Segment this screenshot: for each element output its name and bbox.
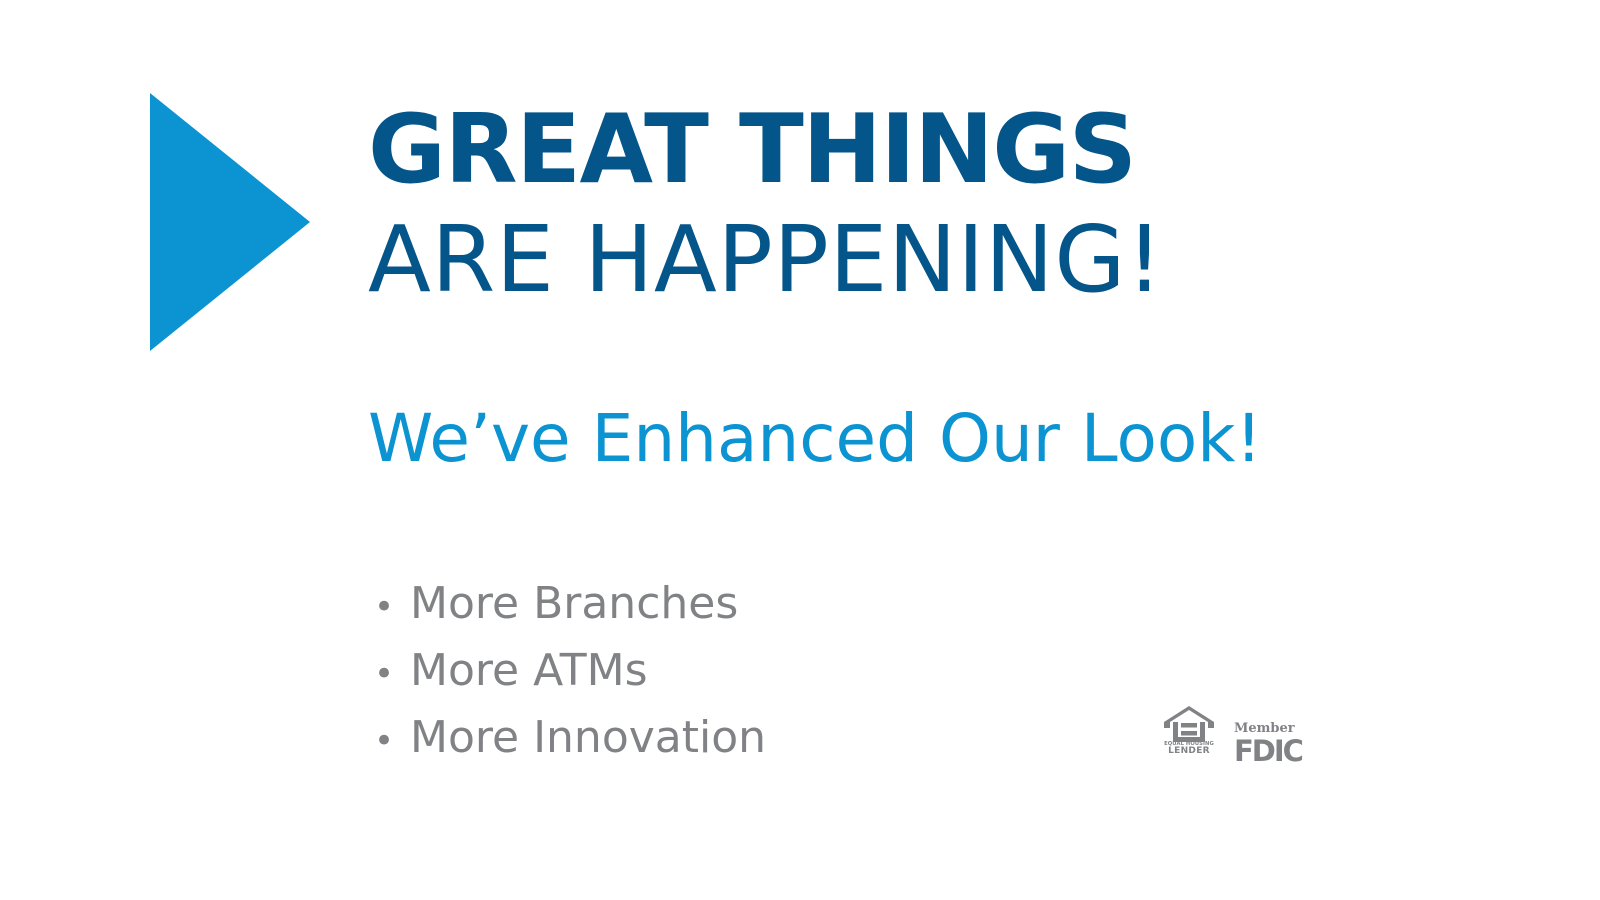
- equal-housing-lender-logo: EQUAL HOUSING LENDER: [1160, 706, 1218, 757]
- equal-housing-lender-icon: [1164, 706, 1214, 742]
- play-triangle-icon: [150, 93, 310, 351]
- list-item: • More ATMs: [374, 639, 766, 706]
- list-item-label: More ATMs: [410, 639, 648, 703]
- ehl-caption-line-2: LENDER: [1164, 747, 1214, 757]
- list-item-label: More Innovation: [410, 706, 766, 770]
- bullet-marker-icon: •: [374, 709, 410, 773]
- list-item: • More Branches: [374, 572, 766, 639]
- bullet-marker-icon: •: [374, 575, 410, 639]
- list-item: • More Innovation: [374, 706, 766, 773]
- compliance-logos: EQUAL HOUSING LENDER Member FDIC: [1160, 706, 1302, 766]
- subheading: We’ve Enhanced Our Look!: [368, 398, 1262, 480]
- slide-canvas: GREAT THINGS ARE HAPPENING! We’ve Enhanc…: [0, 0, 1600, 900]
- bullet-marker-icon: •: [374, 642, 410, 706]
- list-item-label: More Branches: [410, 572, 738, 636]
- fdic-acronym-label: FDIC: [1234, 737, 1302, 766]
- headline-line-2: ARE HAPPENING!: [368, 210, 1498, 310]
- member-fdic-logo: Member FDIC: [1234, 722, 1302, 766]
- headline-line-1: GREAT THINGS: [368, 100, 1498, 200]
- feature-bullet-list: • More Branches • More ATMs • More Innov…: [374, 572, 766, 773]
- equal-housing-lender-caption: EQUAL HOUSING LENDER: [1164, 741, 1214, 757]
- headline-block: GREAT THINGS ARE HAPPENING!: [368, 100, 1498, 310]
